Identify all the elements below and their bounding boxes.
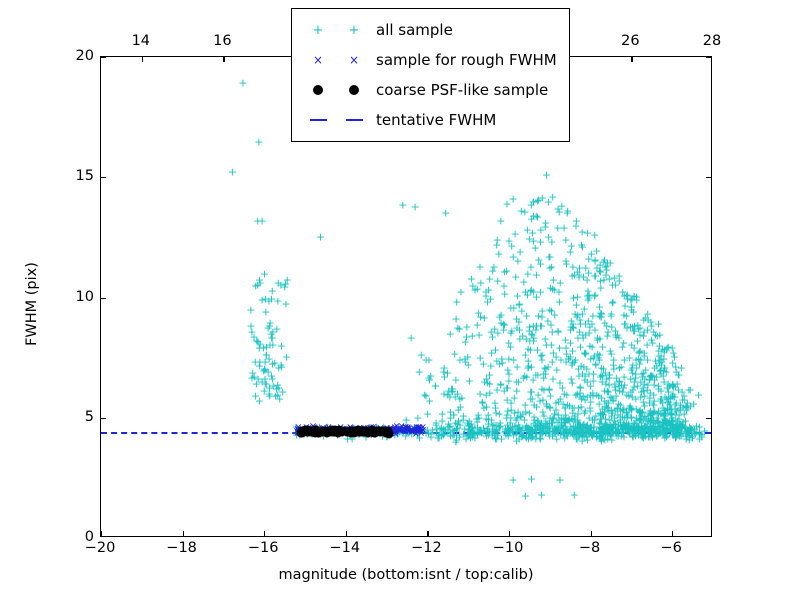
- data-point-all-sample: +: [439, 389, 448, 400]
- data-point-rough-fwhm: ×: [337, 426, 345, 436]
- data-point-all-sample: +: [511, 415, 520, 426]
- data-point-all-sample: +: [509, 251, 518, 262]
- data-point-all-sample: +: [676, 404, 685, 415]
- data-point-all-sample: +: [478, 396, 487, 407]
- data-point-all-sample: +: [607, 392, 616, 403]
- data-point-all-sample: +: [536, 225, 545, 236]
- data-point-all-sample: +: [539, 373, 548, 384]
- data-point-all-sample: +: [631, 394, 640, 405]
- data-point-all-sample: +: [529, 286, 538, 297]
- data-point-all-sample: +: [664, 418, 673, 429]
- data-point-all-sample: +: [668, 379, 677, 390]
- top-x-tick-label: 26: [621, 33, 639, 49]
- data-point-all-sample: +: [579, 390, 588, 401]
- data-point-all-sample: +: [564, 354, 573, 365]
- data-point-all-sample: +: [432, 418, 441, 429]
- data-point-all-sample: +: [267, 370, 276, 381]
- data-point-all-sample: +: [659, 354, 668, 365]
- data-point-all-sample: +: [537, 355, 546, 366]
- data-point-all-sample: +: [542, 399, 551, 410]
- data-point-psf-sample: [375, 427, 384, 436]
- data-point-all-sample: +: [615, 375, 624, 386]
- data-point-all-sample: +: [613, 329, 622, 340]
- data-point-all-sample: +: [350, 429, 359, 440]
- data-point-rough-fwhm: ×: [305, 426, 313, 436]
- data-point-all-sample: +: [539, 421, 548, 432]
- data-point-all-sample: +: [265, 321, 274, 332]
- data-point-all-sample: +: [517, 205, 526, 216]
- data-point-all-sample: +: [595, 334, 604, 345]
- data-point-all-sample: +: [668, 390, 677, 401]
- data-point-all-sample: +: [606, 311, 615, 322]
- data-point-all-sample: +: [534, 415, 543, 426]
- data-point-all-sample: +: [589, 422, 598, 433]
- data-point-all-sample: +: [256, 278, 265, 289]
- data-point-all-sample: +: [504, 354, 513, 365]
- data-point-all-sample: +: [539, 385, 548, 396]
- data-point-all-sample: +: [604, 369, 613, 380]
- data-point-all-sample: +: [410, 425, 419, 436]
- data-point-all-sample: +: [657, 359, 666, 370]
- data-point-all-sample: +: [529, 197, 538, 208]
- data-point-all-sample: +: [515, 325, 524, 336]
- data-point-all-sample: +: [669, 429, 678, 440]
- data-point-all-sample: +: [650, 379, 659, 390]
- data-point-all-sample: +: [636, 425, 645, 436]
- data-point-all-sample: +: [496, 417, 505, 428]
- data-point-all-sample: +: [522, 310, 531, 321]
- data-point-all-sample: +: [665, 417, 674, 428]
- data-point-all-sample: +: [487, 347, 496, 358]
- data-point-all-sample: +: [639, 386, 648, 397]
- data-point-all-sample: +: [551, 397, 560, 408]
- data-point-all-sample: +: [485, 369, 494, 380]
- data-point-all-sample: +: [611, 391, 620, 402]
- data-point-all-sample: +: [522, 372, 531, 383]
- data-point-all-sample: +: [601, 425, 610, 436]
- data-point-all-sample: +: [641, 364, 650, 375]
- data-point-all-sample: +: [563, 205, 572, 216]
- data-point-all-sample: +: [564, 413, 573, 424]
- data-point-all-sample: +: [620, 371, 629, 382]
- data-point-all-sample: +: [616, 400, 625, 411]
- data-point-all-sample: +: [563, 207, 572, 218]
- data-point-all-sample: +: [475, 262, 484, 273]
- data-point-all-sample: +: [455, 420, 464, 431]
- data-point-all-sample: +: [255, 396, 264, 407]
- data-point-all-sample: +: [522, 421, 531, 432]
- data-point-rough-fwhm: ×: [328, 426, 336, 436]
- legend-marker-cross: ××: [300, 54, 372, 66]
- data-point-all-sample: +: [664, 397, 673, 408]
- data-point-all-sample: +: [519, 277, 528, 288]
- data-point-all-sample: +: [252, 335, 261, 346]
- data-point-all-sample: +: [525, 234, 534, 245]
- data-point-all-sample: +: [541, 334, 550, 345]
- data-point-all-sample: +: [253, 279, 262, 290]
- data-point-all-sample: +: [482, 389, 491, 400]
- data-point-all-sample: +: [580, 408, 589, 419]
- data-point-all-sample: +: [674, 384, 683, 395]
- data-point-all-sample: +: [249, 332, 258, 343]
- data-point-all-sample: +: [682, 401, 691, 412]
- data-point-all-sample: +: [640, 391, 649, 402]
- data-point-all-sample: +: [649, 406, 658, 417]
- data-point-all-sample: +: [584, 316, 593, 327]
- data-point-all-sample: +: [266, 317, 275, 328]
- data-point-all-sample: +: [506, 302, 515, 313]
- data-point-all-sample: +: [663, 403, 672, 414]
- data-point-all-sample: +: [549, 412, 558, 423]
- data-point-all-sample: +: [512, 425, 521, 436]
- data-point-all-sample: +: [622, 406, 631, 417]
- data-point-all-sample: +: [611, 329, 620, 340]
- data-point-all-sample: +: [635, 422, 644, 433]
- data-point-all-sample: +: [548, 357, 557, 368]
- data-point-all-sample: +: [627, 340, 636, 351]
- data-point-all-sample: +: [570, 270, 579, 281]
- data-point-all-sample: +: [464, 359, 473, 370]
- data-point-all-sample: +: [401, 422, 410, 433]
- data-point-all-sample: +: [499, 281, 508, 292]
- legend-marker-dashed-line: [300, 119, 372, 121]
- data-point-all-sample: +: [597, 369, 606, 380]
- data-point-all-sample: +: [638, 372, 647, 383]
- figure-canvas: FWHM vs magnitudes FWHM (pix) magnitude …: [0, 0, 800, 600]
- data-point-all-sample: +: [556, 393, 565, 404]
- data-point-all-sample: +: [481, 287, 490, 298]
- data-point-all-sample: +: [495, 422, 504, 433]
- data-point-all-sample: +: [499, 318, 508, 329]
- data-point-all-sample: +: [614, 420, 623, 431]
- data-point-all-sample: +: [596, 275, 605, 286]
- y-tick-right: [706, 298, 711, 299]
- data-point-all-sample: +: [451, 313, 460, 324]
- data-point-all-sample: +: [433, 433, 442, 444]
- data-point-rough-fwhm: ×: [335, 426, 343, 436]
- data-point-all-sample: +: [476, 311, 485, 322]
- data-point-all-sample: +: [646, 371, 655, 382]
- data-point-all-sample: +: [264, 295, 273, 306]
- data-point-all-sample: +: [465, 421, 474, 432]
- data-point-all-sample: +: [406, 333, 415, 344]
- data-point-all-sample: +: [627, 403, 636, 414]
- data-point-all-sample: +: [603, 327, 612, 338]
- data-point-all-sample: +: [262, 350, 271, 361]
- data-point-all-sample: +: [440, 372, 449, 383]
- data-point-all-sample: +: [582, 421, 591, 432]
- data-point-all-sample: +: [579, 332, 588, 343]
- data-point-all-sample: +: [548, 284, 557, 295]
- data-point-all-sample: +: [566, 337, 575, 348]
- data-point-all-sample: +: [649, 399, 658, 410]
- data-point-all-sample: +: [559, 414, 568, 425]
- data-point-all-sample: +: [639, 433, 648, 444]
- data-point-all-sample: +: [523, 268, 532, 279]
- data-point-all-sample: +: [655, 365, 664, 376]
- data-point-all-sample: +: [527, 421, 536, 432]
- data-point-all-sample: +: [575, 391, 584, 402]
- data-point-all-sample: +: [528, 329, 537, 340]
- data-point-all-sample: +: [410, 425, 419, 436]
- data-point-all-sample: +: [636, 391, 645, 402]
- data-point-all-sample: +: [601, 378, 610, 389]
- data-point-all-sample: +: [618, 342, 627, 353]
- data-point-all-sample: +: [630, 325, 639, 336]
- data-point-rough-fwhm: ×: [392, 422, 400, 432]
- data-point-all-sample: +: [639, 315, 648, 326]
- data-point-all-sample: +: [619, 403, 628, 414]
- data-point-all-sample: +: [484, 419, 493, 430]
- data-point-all-sample: +: [553, 223, 562, 234]
- data-point-all-sample: +: [514, 407, 523, 418]
- data-point-all-sample: +: [462, 434, 471, 445]
- data-point-all-sample: +: [611, 279, 620, 290]
- data-point-all-sample: +: [518, 429, 527, 440]
- data-point-all-sample: +: [628, 321, 637, 332]
- data-point-all-sample: +: [504, 369, 513, 380]
- data-point-all-sample: +: [575, 327, 584, 338]
- data-point-all-sample: +: [662, 394, 671, 405]
- data-point-all-sample: +: [656, 421, 665, 432]
- x-tick-label: −18: [166, 540, 197, 556]
- data-point-all-sample: +: [665, 418, 674, 429]
- data-point-all-sample: +: [596, 421, 605, 432]
- x-tick-label: −12: [411, 540, 442, 556]
- data-point-psf-sample: [302, 427, 311, 436]
- data-point-all-sample: +: [545, 304, 554, 315]
- data-point-all-sample: +: [585, 341, 594, 352]
- data-point-all-sample: +: [420, 389, 429, 400]
- data-point-all-sample: +: [486, 293, 495, 304]
- data-point-all-sample: +: [513, 362, 522, 373]
- data-point-all-sample: +: [561, 403, 570, 414]
- data-point-all-sample: +: [496, 310, 505, 321]
- data-point-all-sample: +: [673, 415, 682, 426]
- data-point-all-sample: +: [670, 392, 679, 403]
- data-point-all-sample: +: [444, 386, 453, 397]
- legend-entry-tentative-fwhm: tentative FWHM: [300, 105, 557, 135]
- data-point-all-sample: +: [594, 353, 603, 364]
- data-point-all-sample: +: [267, 332, 276, 343]
- data-point-all-sample: +: [590, 229, 599, 240]
- data-point-all-sample: +: [506, 417, 515, 428]
- data-point-all-sample: +: [558, 398, 567, 409]
- data-point-all-sample: +: [247, 327, 256, 338]
- data-point-all-sample: +: [568, 377, 577, 388]
- data-point-all-sample: +: [500, 266, 509, 277]
- data-point-all-sample: +: [572, 312, 581, 323]
- data-point-all-sample: +: [536, 321, 545, 332]
- data-point-all-sample: +: [634, 421, 643, 432]
- data-point-all-sample: +: [577, 226, 586, 237]
- data-point-all-sample: +: [492, 433, 501, 444]
- data-point-all-sample: +: [446, 406, 455, 417]
- data-point-all-sample: +: [453, 388, 462, 399]
- data-point-all-sample: +: [551, 425, 560, 436]
- data-point-all-sample: +: [535, 420, 544, 431]
- data-point-all-sample: +: [624, 403, 633, 414]
- x-tick: [264, 531, 265, 536]
- data-point-all-sample: +: [282, 351, 291, 362]
- data-point-all-sample: +: [571, 390, 580, 401]
- data-point-all-sample: +: [663, 404, 672, 415]
- data-point-all-sample: +: [514, 316, 523, 327]
- data-point-all-sample: +: [614, 332, 623, 343]
- data-point-all-sample: +: [449, 409, 458, 420]
- data-point-all-sample: +: [640, 401, 649, 412]
- data-point-all-sample: +: [669, 347, 678, 358]
- data-point-all-sample: +: [608, 408, 617, 419]
- data-point-all-sample: +: [508, 425, 517, 436]
- data-point-all-sample: +: [563, 400, 572, 411]
- data-point-all-sample: +: [671, 361, 680, 372]
- data-point-all-sample: +: [485, 378, 494, 389]
- data-point-all-sample: +: [534, 194, 543, 205]
- data-point-all-sample: +: [543, 362, 552, 373]
- data-point-all-sample: +: [545, 425, 554, 436]
- data-point-all-sample: +: [573, 416, 582, 427]
- data-point-all-sample: +: [483, 377, 492, 388]
- data-point-all-sample: +: [544, 252, 553, 263]
- data-point-all-sample: +: [609, 420, 618, 431]
- data-point-all-sample: +: [648, 409, 657, 420]
- data-point-all-sample: +: [577, 425, 586, 436]
- data-point-all-sample: +: [261, 306, 270, 317]
- data-point-all-sample: +: [512, 314, 521, 325]
- data-point-all-sample: +: [571, 309, 580, 320]
- data-point-all-sample: +: [661, 415, 670, 426]
- data-point-all-sample: +: [660, 362, 669, 373]
- data-point-all-sample: +: [613, 404, 622, 415]
- data-point-all-sample: +: [458, 415, 467, 426]
- data-point-all-sample: +: [281, 279, 290, 290]
- data-point-all-sample: +: [657, 356, 666, 367]
- data-point-all-sample: +: [637, 410, 646, 421]
- data-point-all-sample: +: [488, 425, 497, 436]
- data-point-all-sample: +: [551, 405, 560, 416]
- data-point-all-sample: +: [583, 425, 592, 436]
- data-point-all-sample: +: [669, 381, 678, 392]
- data-point-all-sample: +: [527, 329, 536, 340]
- data-point-all-sample: +: [659, 371, 668, 382]
- data-point-all-sample: +: [610, 381, 619, 392]
- top-x-tick-label: 14: [132, 33, 150, 49]
- data-point-all-sample: +: [635, 347, 644, 358]
- data-point-all-sample: +: [635, 359, 644, 370]
- data-point-all-sample: +: [581, 395, 590, 406]
- data-point-all-sample: +: [462, 321, 471, 332]
- data-point-all-sample: +: [550, 310, 559, 321]
- data-point-all-sample: +: [252, 336, 261, 347]
- data-point-rough-fwhm: ×: [367, 429, 375, 439]
- data-point-all-sample: +: [645, 408, 654, 419]
- data-point-all-sample: +: [602, 402, 611, 413]
- data-point-all-sample: +: [601, 414, 610, 425]
- data-point-all-sample: +: [596, 414, 605, 425]
- data-point-all-sample: +: [502, 395, 511, 406]
- data-point-all-sample: +: [534, 390, 543, 401]
- data-point-all-sample: +: [570, 425, 579, 436]
- data-point-all-sample: +: [568, 402, 577, 413]
- data-point-all-sample: +: [468, 281, 477, 292]
- data-point-all-sample: +: [627, 302, 636, 313]
- data-point-all-sample: +: [489, 262, 498, 273]
- data-point-all-sample: +: [677, 425, 686, 436]
- legend-marker-dot: [300, 85, 372, 95]
- data-point-all-sample: +: [662, 344, 671, 355]
- data-point-all-sample: +: [561, 356, 570, 367]
- data-point-all-sample: +: [548, 420, 557, 431]
- data-point-all-sample: +: [515, 421, 524, 432]
- data-point-all-sample: +: [603, 420, 612, 431]
- data-point-all-sample: +: [503, 382, 512, 393]
- data-point-all-sample: +: [560, 388, 569, 399]
- data-point-all-sample: +: [656, 365, 665, 376]
- data-point-all-sample: +: [667, 412, 676, 423]
- data-point-all-sample: +: [649, 420, 658, 431]
- data-point-all-sample: +: [568, 346, 577, 357]
- data-point-all-sample: +: [547, 418, 556, 429]
- data-point-all-sample: +: [547, 306, 556, 317]
- data-point-all-sample: +: [584, 268, 593, 279]
- data-point-all-sample: +: [540, 363, 549, 374]
- data-point-all-sample: +: [531, 369, 540, 380]
- data-point-all-sample: +: [273, 296, 282, 307]
- data-point-all-sample: +: [537, 489, 546, 500]
- data-point-all-sample: +: [641, 422, 650, 433]
- data-point-all-sample: +: [659, 366, 668, 377]
- data-point-all-sample: +: [470, 433, 479, 444]
- data-point-all-sample: +: [637, 368, 646, 379]
- data-point-all-sample: +: [480, 313, 489, 324]
- data-point-all-sample: +: [451, 436, 460, 447]
- data-point-all-sample: +: [597, 363, 606, 374]
- data-point-all-sample: +: [531, 433, 540, 444]
- data-point-all-sample: +: [580, 347, 589, 358]
- data-point-all-sample: +: [644, 425, 653, 436]
- data-point-all-sample: +: [415, 367, 424, 378]
- data-point-all-sample: +: [532, 421, 541, 432]
- data-point-all-sample: +: [644, 415, 653, 426]
- data-point-all-sample: +: [663, 396, 672, 407]
- data-point-all-sample: +: [572, 299, 581, 310]
- data-point-all-sample: +: [633, 335, 642, 346]
- top-x-tick-label: 16: [213, 33, 231, 49]
- data-point-all-sample: +: [627, 404, 636, 415]
- data-point-all-sample: +: [585, 321, 594, 332]
- data-point-all-sample: +: [273, 389, 282, 400]
- data-point-all-sample: +: [586, 354, 595, 365]
- data-point-all-sample: +: [670, 352, 679, 363]
- data-point-all-sample: +: [515, 334, 524, 345]
- data-point-all-sample: +: [491, 403, 500, 414]
- data-point-all-sample: +: [567, 240, 576, 251]
- data-point-rough-fwhm: ×: [327, 430, 335, 440]
- data-point-all-sample: +: [415, 425, 424, 436]
- data-point-all-sample: +: [467, 419, 476, 430]
- y-tick-label: 5: [48, 409, 94, 425]
- data-point-all-sample: +: [539, 425, 548, 436]
- data-point-all-sample: +: [535, 425, 544, 436]
- data-point-all-sample: +: [496, 379, 505, 390]
- data-point-all-sample: +: [662, 415, 671, 426]
- data-point-all-sample: +: [513, 291, 522, 302]
- data-point-all-sample: +: [500, 386, 509, 397]
- data-point-all-sample: +: [625, 352, 634, 363]
- data-point-all-sample: +: [577, 240, 586, 251]
- data-point-all-sample: +: [610, 415, 619, 426]
